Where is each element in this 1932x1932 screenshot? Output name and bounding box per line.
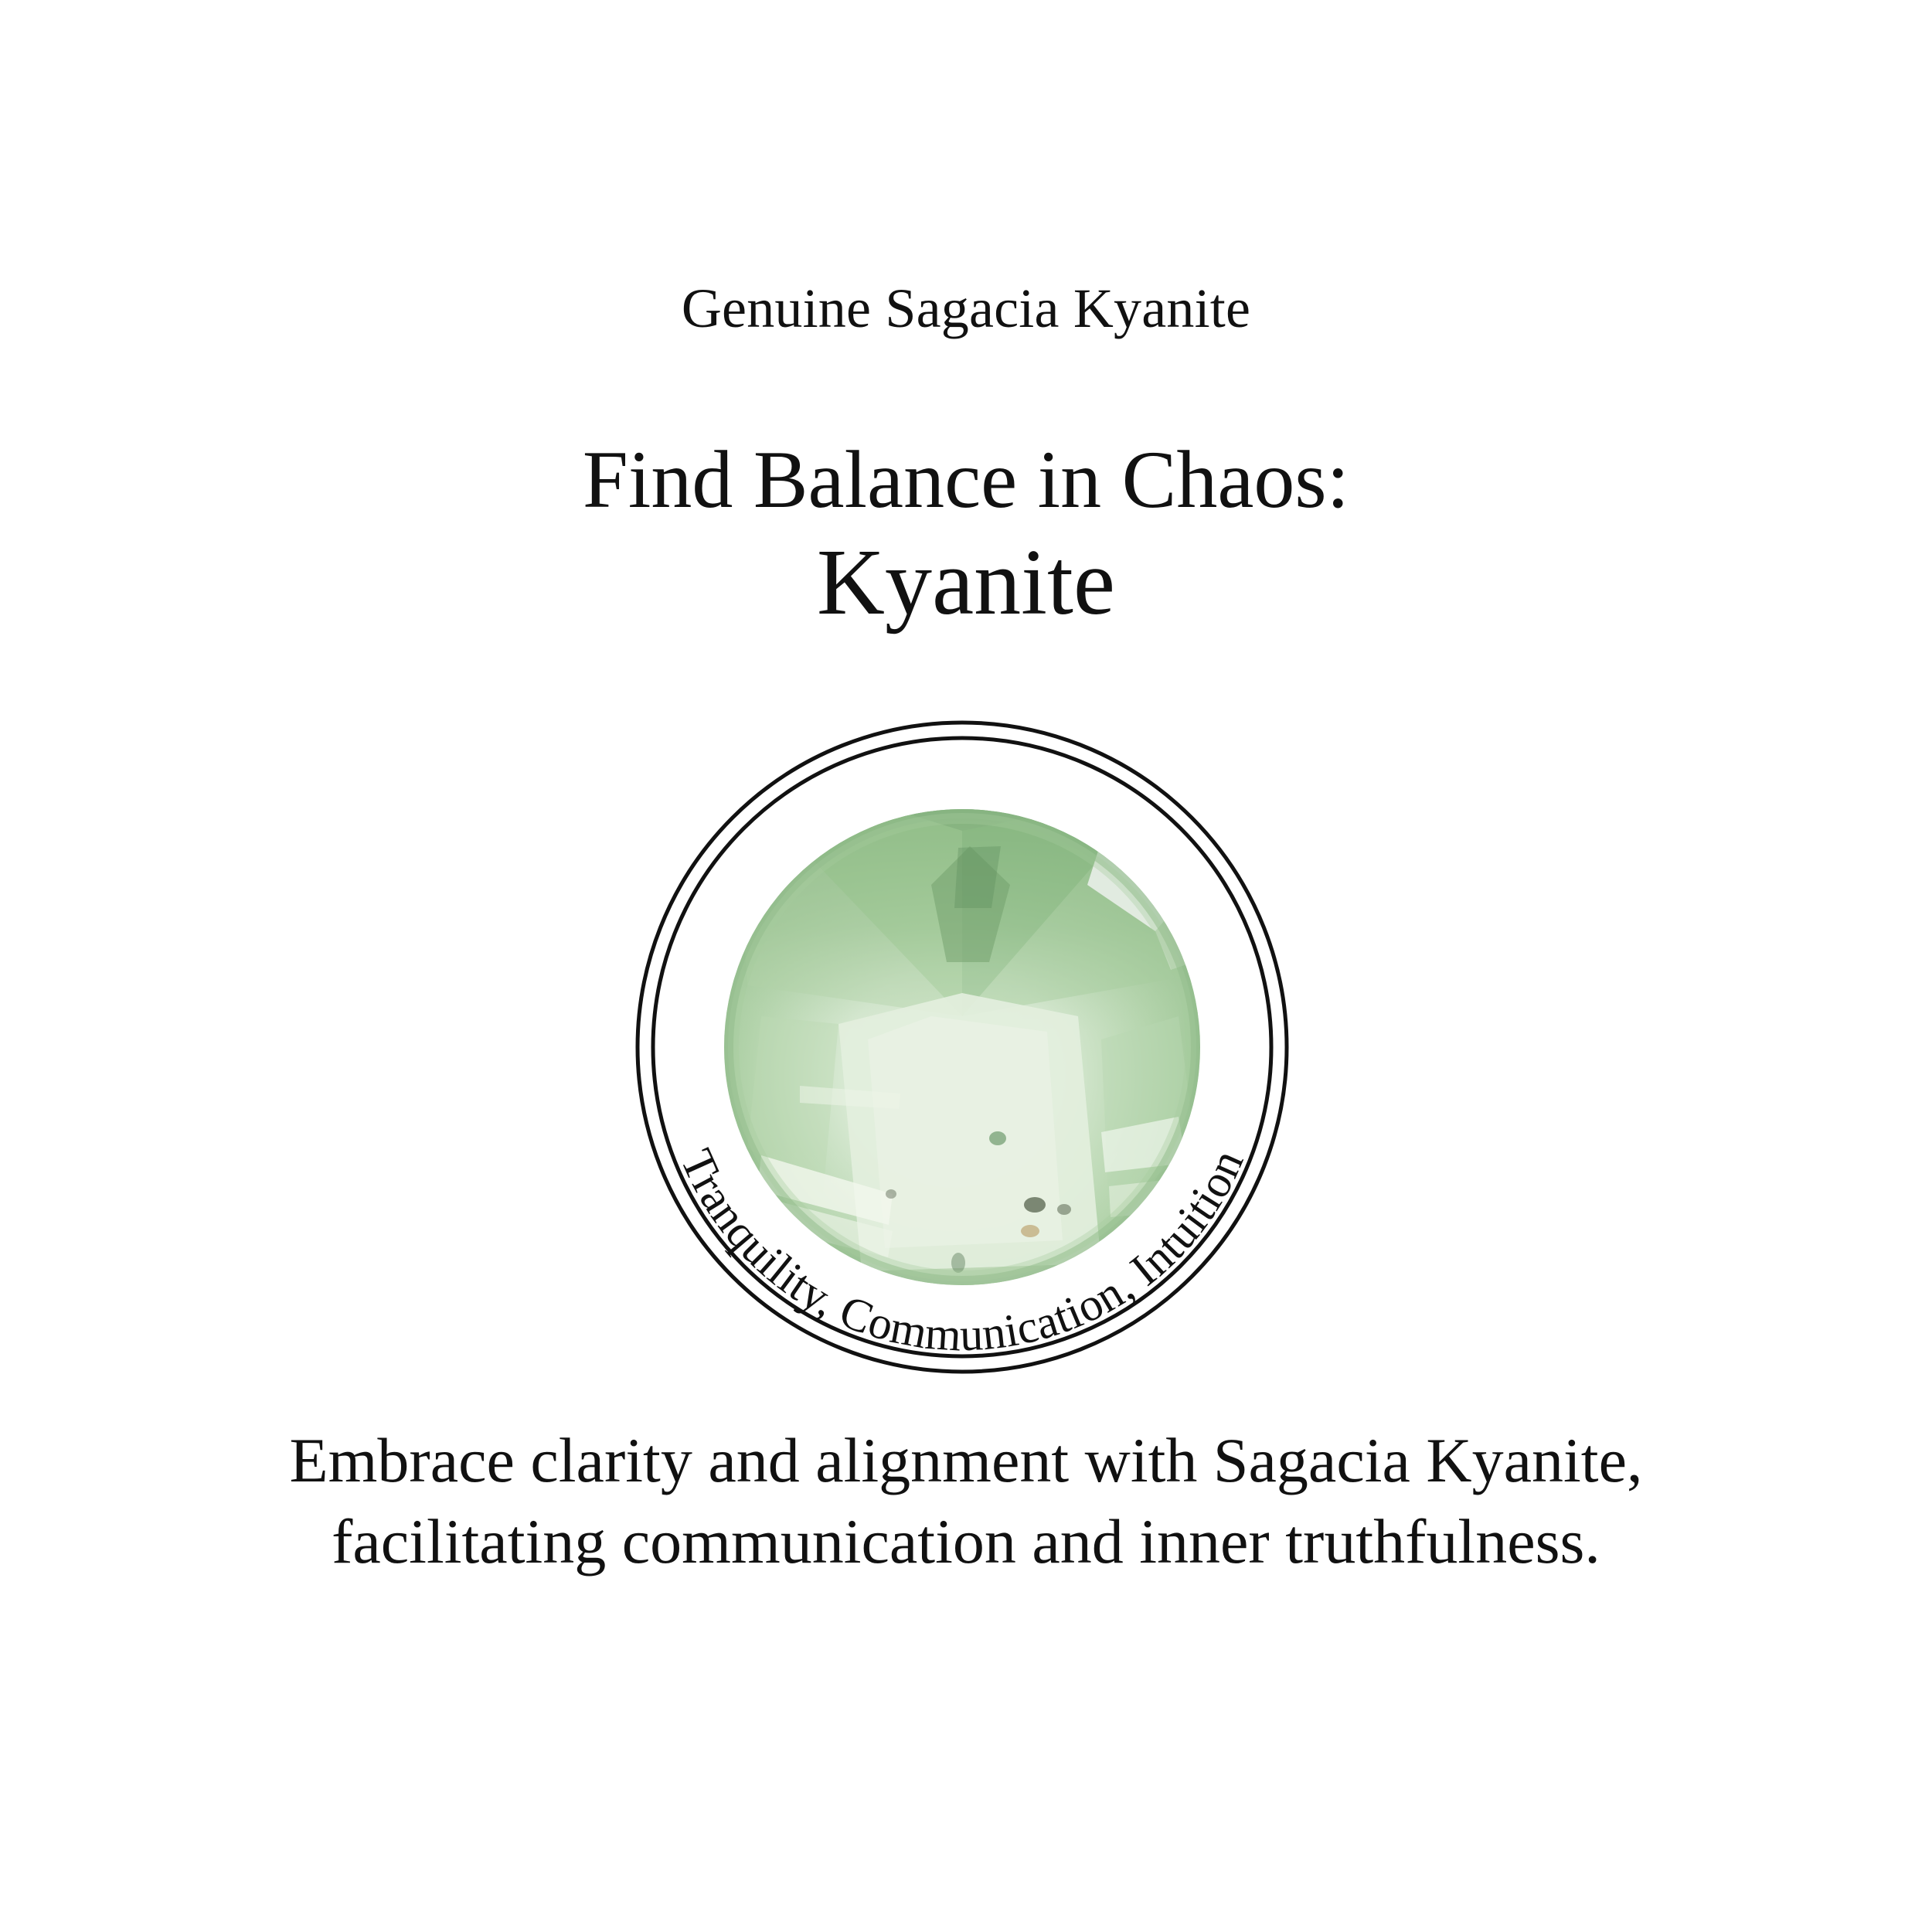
gemstone-badge: Tranquility, Communication, Intuition [568, 653, 1356, 1441]
headline-line-1: Find Balance in Chaos: [0, 434, 1932, 526]
badge-svg: Tranquility, Communication, Intuition [568, 653, 1356, 1441]
product-description: Embrace clarity and alignment with Sagac… [147, 1420, 1785, 1583]
product-card: Genuine Sagacia Kyanite Find Balance in … [0, 0, 1932, 1932]
product-eyebrow: Genuine Sagacia Kyanite [0, 280, 1932, 338]
page-title: Find Balance in Chaos: Kyanite [0, 434, 1932, 634]
headline-line-2: Kyanite [0, 531, 1932, 634]
